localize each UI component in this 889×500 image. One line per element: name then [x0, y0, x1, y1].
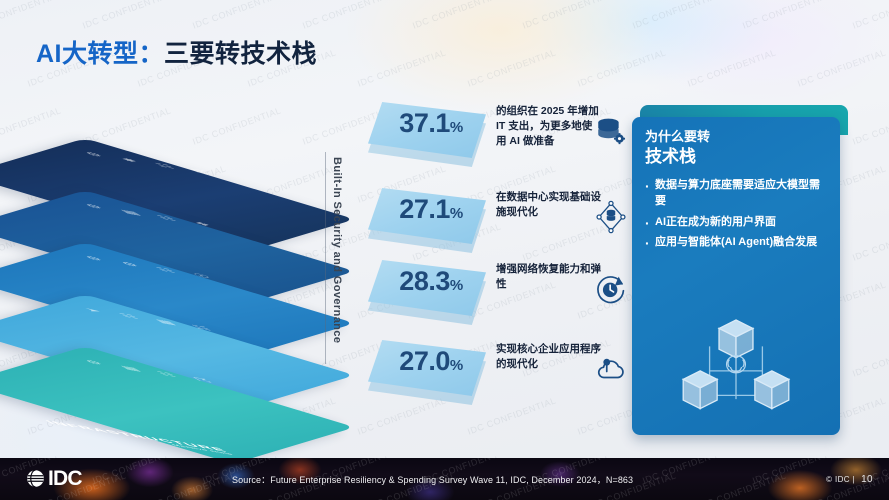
globe-icon — [26, 469, 45, 488]
page-title: AI大转型：三要转技术栈 — [36, 34, 317, 70]
page-number: © IDC |10 — [826, 474, 873, 485]
connected-cubes-ai-icon — [670, 311, 802, 427]
panel-heading: 技术栈 — [645, 146, 827, 169]
layer-icons: ⚙✸☷☈ — [81, 150, 365, 200]
panel-body: 为什么要转 技术栈 数据与算力底座需要适应大模型需要 AI正在成为新的用户界面 … — [632, 117, 840, 435]
clock-refresh-icon — [594, 272, 628, 306]
stat-description: 的组织在 2025 年增加 IT 支出，为更多地使用 AI 做准备 — [496, 104, 601, 150]
stat-description: 在数据中心实现基础设施现代化 — [496, 190, 601, 220]
list-item: 数据与算力底座需要适应大模型需要 — [645, 178, 827, 209]
panel-bullet-list: 数据与算力底座需要适应大模型需要 AI正在成为新的用户界面 应用与智能体(AI … — [645, 178, 827, 250]
stat-value: 28.3% — [372, 266, 490, 297]
stat-item: 27.0% 实现核心企业应用程序的现代化 — [368, 334, 628, 412]
page-title-accent: AI大转型： — [36, 40, 164, 68]
stack-divider-line — [325, 152, 326, 364]
page-title-main: 三要转技术栈 — [164, 40, 317, 68]
footer-bar: IDC CONFIDENTIALIDC CONFIDENTIALIDC CONF… — [0, 458, 889, 500]
list-item: AI正在成为新的用户界面 — [645, 215, 827, 231]
panel-kicker: 为什么要转 — [645, 128, 827, 146]
technology-stack-diagram: ⚙✸☷☈ APPLICATION Agents become apps ⚙▦☷❖… — [8, 130, 338, 430]
cloud-app-icon — [594, 352, 628, 386]
built-in-security-label: Built-In Security and Governance — [331, 157, 343, 357]
stat-description: 增强网络恢复能力和弹性 — [496, 262, 601, 292]
server-network-icon — [594, 200, 628, 234]
stat-item: 27.1% 在数据中心实现基础设施现代化 — [368, 182, 628, 260]
idc-wordmark: IDC — [48, 468, 82, 489]
stat-value: 27.0% — [372, 346, 490, 377]
slide-number: 10 — [861, 474, 873, 485]
idc-logo: IDC — [26, 468, 82, 489]
copyright-text: © IDC | — [826, 475, 855, 484]
why-transform-panel: 为什么要转 技术栈 数据与算力底座需要适应大模型需要 AI正在成为新的用户界面 … — [632, 105, 848, 435]
database-gear-icon — [594, 114, 628, 148]
stat-item: 37.1% 的组织在 2025 年增加 IT 支出，为更多地使用 AI 做准备 — [368, 96, 628, 174]
layer-sub: Massive scale — [52, 425, 235, 456]
layer-label: INFRASTRUCTURE Massive scale — [43, 419, 235, 456]
stat-item: 28.3% 增强网络恢复能力和弹性 — [368, 254, 628, 332]
stat-description: 实现核心企业应用程序的现代化 — [496, 342, 601, 372]
list-item: 应用与智能体(AI Agent)融合发展 — [645, 235, 827, 251]
stat-value: 27.1% — [372, 194, 490, 225]
stat-value: 37.1% — [372, 108, 490, 139]
source-citation: Source：Future Enterprise Resiliency & Sp… — [232, 473, 633, 486]
slide-canvas: IDC CONFIDENTIALIDC CONFIDENTIALIDC CONF… — [0, 0, 889, 500]
